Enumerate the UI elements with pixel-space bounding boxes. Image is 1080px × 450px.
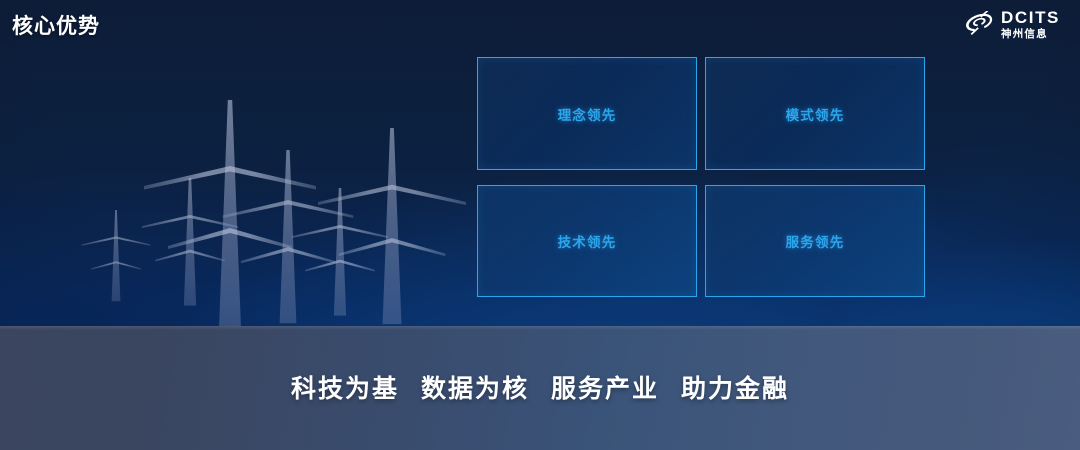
bottom-banner: 科技为基 数据为核 服务产业 助力金融 [0,326,1080,450]
logo-wordmark: DCITS 神州信息 [1001,9,1060,40]
advantage-card-service[interactable]: 服务领先 [705,185,925,297]
dcits-swirl-icon [964,11,994,38]
tagline-segment-3: 服务产业 [551,369,659,405]
advantage-card-tech[interactable]: 技术领先 [477,185,697,297]
logo-chinese-text: 神州信息 [1001,29,1060,40]
page-title: 核心优势 [12,10,100,40]
slide-canvas: 核心优势 DCITS 神州信息 理念领先 模式领先 技术领先 [0,0,1080,450]
advantage-card-label: 服务领先 [786,231,845,251]
tagline-segment-4: 助力金融 [681,369,789,405]
tagline: 科技为基 数据为核 服务产业 助力金融 [0,326,1080,450]
advantage-card-label: 模式领先 [786,104,845,124]
tagline-segment-1: 科技为基 [291,369,399,405]
advantage-card-label: 理念领先 [558,104,617,124]
brand-logo: DCITS 神州信息 [964,9,1060,40]
tagline-segment-2: 数据为核 [421,369,529,405]
advantage-card-label: 技术领先 [558,231,617,251]
advantage-card-grid: 理念领先 模式领先 技术领先 服务领先 [477,57,925,297]
advantage-card-model[interactable]: 模式领先 [705,57,925,170]
logo-english-text: DCITS [1001,9,1060,26]
advantage-card-idea[interactable]: 理念领先 [477,57,697,170]
